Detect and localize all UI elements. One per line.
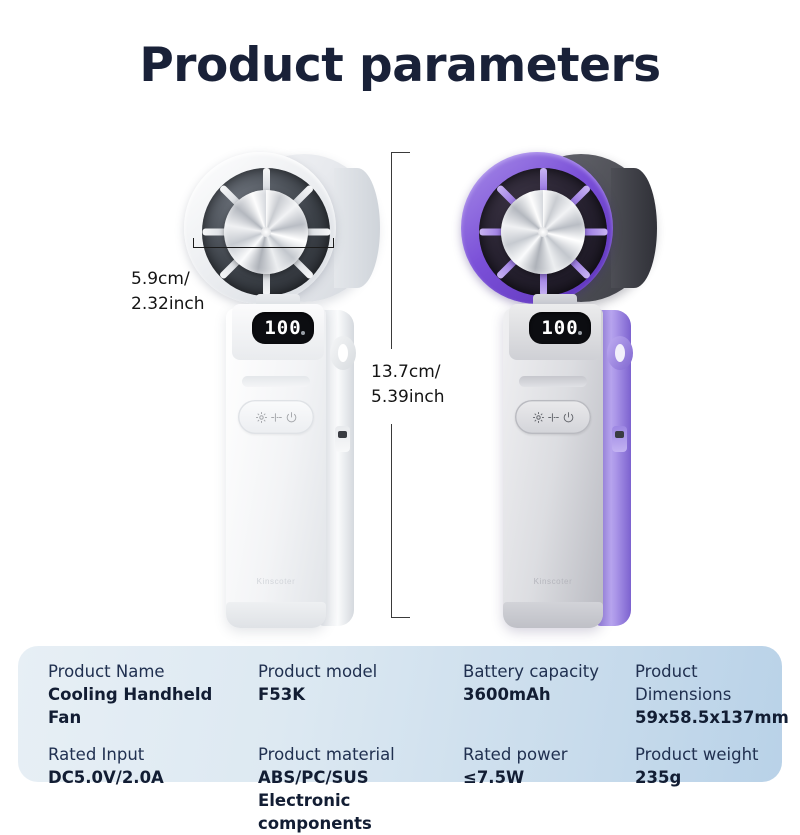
divider-icon: [270, 411, 283, 424]
fan-ring-outer: [461, 152, 613, 304]
spec-value: DC5.0V/2.0A: [48, 766, 242, 789]
spec-cell-product-material: Product material ABS/PC/SUS Electronic c…: [242, 743, 447, 835]
hanging-loop-hole: [615, 344, 625, 362]
spec-label: Product Dimensions: [635, 660, 789, 706]
screen-plate: 100: [232, 304, 324, 360]
hanging-loop: [607, 336, 633, 370]
hanging-loop: [330, 336, 356, 370]
divider-icon: [547, 411, 560, 424]
battery-display: 100: [529, 312, 591, 344]
battery-display-value: 100: [541, 319, 578, 338]
fan-handle: 100 Kinscoter: [503, 308, 631, 628]
spec-cell-product-name: Product Name Cooling Handheld Fan: [32, 660, 242, 729]
brand-logo: Kinscoter: [226, 577, 326, 586]
infographic-canvas: Product parameters: [0, 0, 800, 800]
handle-foot: [226, 602, 326, 628]
height-measurement-line-lower: [391, 424, 392, 618]
spec-label: Product model: [258, 660, 447, 683]
fan-head: [178, 148, 378, 308]
spec-label: Product material: [258, 743, 447, 766]
power-icon: [285, 411, 298, 424]
fan-metal-hub: [501, 190, 585, 274]
page-title: Product parameters: [0, 38, 800, 93]
speed-slot: [519, 376, 587, 387]
spec-cell-battery-capacity: Battery capacity 3600mAh: [447, 660, 619, 729]
hanging-loop-hole: [338, 344, 348, 362]
fan-ring-outer: [184, 152, 336, 304]
height-measurement-line-upper: [391, 152, 392, 349]
spec-value: 59x58.5x137mm: [635, 706, 789, 729]
spec-label: Battery capacity: [463, 660, 619, 683]
spec-grid: Product Name Cooling Handheld Fan Produc…: [32, 660, 768, 772]
power-icon: [562, 411, 575, 424]
fan-speed-icon: [255, 411, 268, 424]
spec-label: Product weight: [635, 743, 789, 766]
product-white-fan: 100 Kinscoter: [178, 148, 388, 628]
fan-barrel-cap: [334, 168, 380, 288]
battery-display: 100: [252, 312, 314, 344]
side-switch[interactable]: [335, 426, 350, 452]
screen-plate: 100: [509, 304, 601, 360]
spec-value: 3600mAh: [463, 683, 619, 706]
display-indicator-dot: [301, 331, 305, 335]
width-measurement-line: [193, 247, 334, 248]
fan-hub-center: [261, 227, 271, 237]
spec-value: ≤7.5W: [463, 766, 619, 789]
spec-label: Product Name: [48, 660, 242, 683]
control-button[interactable]: [515, 400, 591, 434]
fan-head: [455, 148, 655, 308]
fan-hub-center: [538, 227, 548, 237]
fan-handle: 100 Kinscoter: [226, 308, 354, 628]
spec-value: ABS/PC/SUS Electronic components: [258, 766, 447, 835]
spec-cell-product-dimensions: Product Dimensions 59x58.5x137mm: [619, 660, 789, 729]
speed-slot: [242, 376, 310, 387]
side-switch[interactable]: [612, 426, 627, 452]
spec-value: F53K: [258, 683, 447, 706]
battery-display-value: 100: [264, 319, 301, 338]
fan-metal-hub: [224, 190, 308, 274]
spec-label: Rated Input: [48, 743, 242, 766]
width-measurement-label: 5.9cm/ 2.32inch: [131, 267, 204, 317]
spec-cell-product-weight: Product weight 235g: [619, 743, 789, 835]
spec-value: Cooling Handheld Fan: [48, 683, 242, 729]
display-indicator-dot: [578, 331, 582, 335]
handle-foot: [503, 602, 603, 628]
fan-speed-icon: [532, 411, 545, 424]
control-button[interactable]: [238, 400, 314, 434]
spec-cell-product-model: Product model F53K: [242, 660, 447, 729]
spec-panel: Product Name Cooling Handheld Fan Produc…: [18, 646, 782, 782]
spec-cell-rated-input: Rated Input DC5.0V/2.0A: [32, 743, 242, 835]
brand-logo: Kinscoter: [503, 577, 603, 586]
spec-cell-rated-power: Rated power ≤7.5W: [447, 743, 619, 835]
fan-barrel-cap: [611, 168, 657, 288]
height-measurement-label: 13.7cm/ 5.39inch: [371, 360, 444, 410]
spec-value: 235g: [635, 766, 789, 789]
spec-label: Rated power: [463, 743, 619, 766]
product-purple-fan: 100 Kinscoter: [455, 148, 655, 628]
